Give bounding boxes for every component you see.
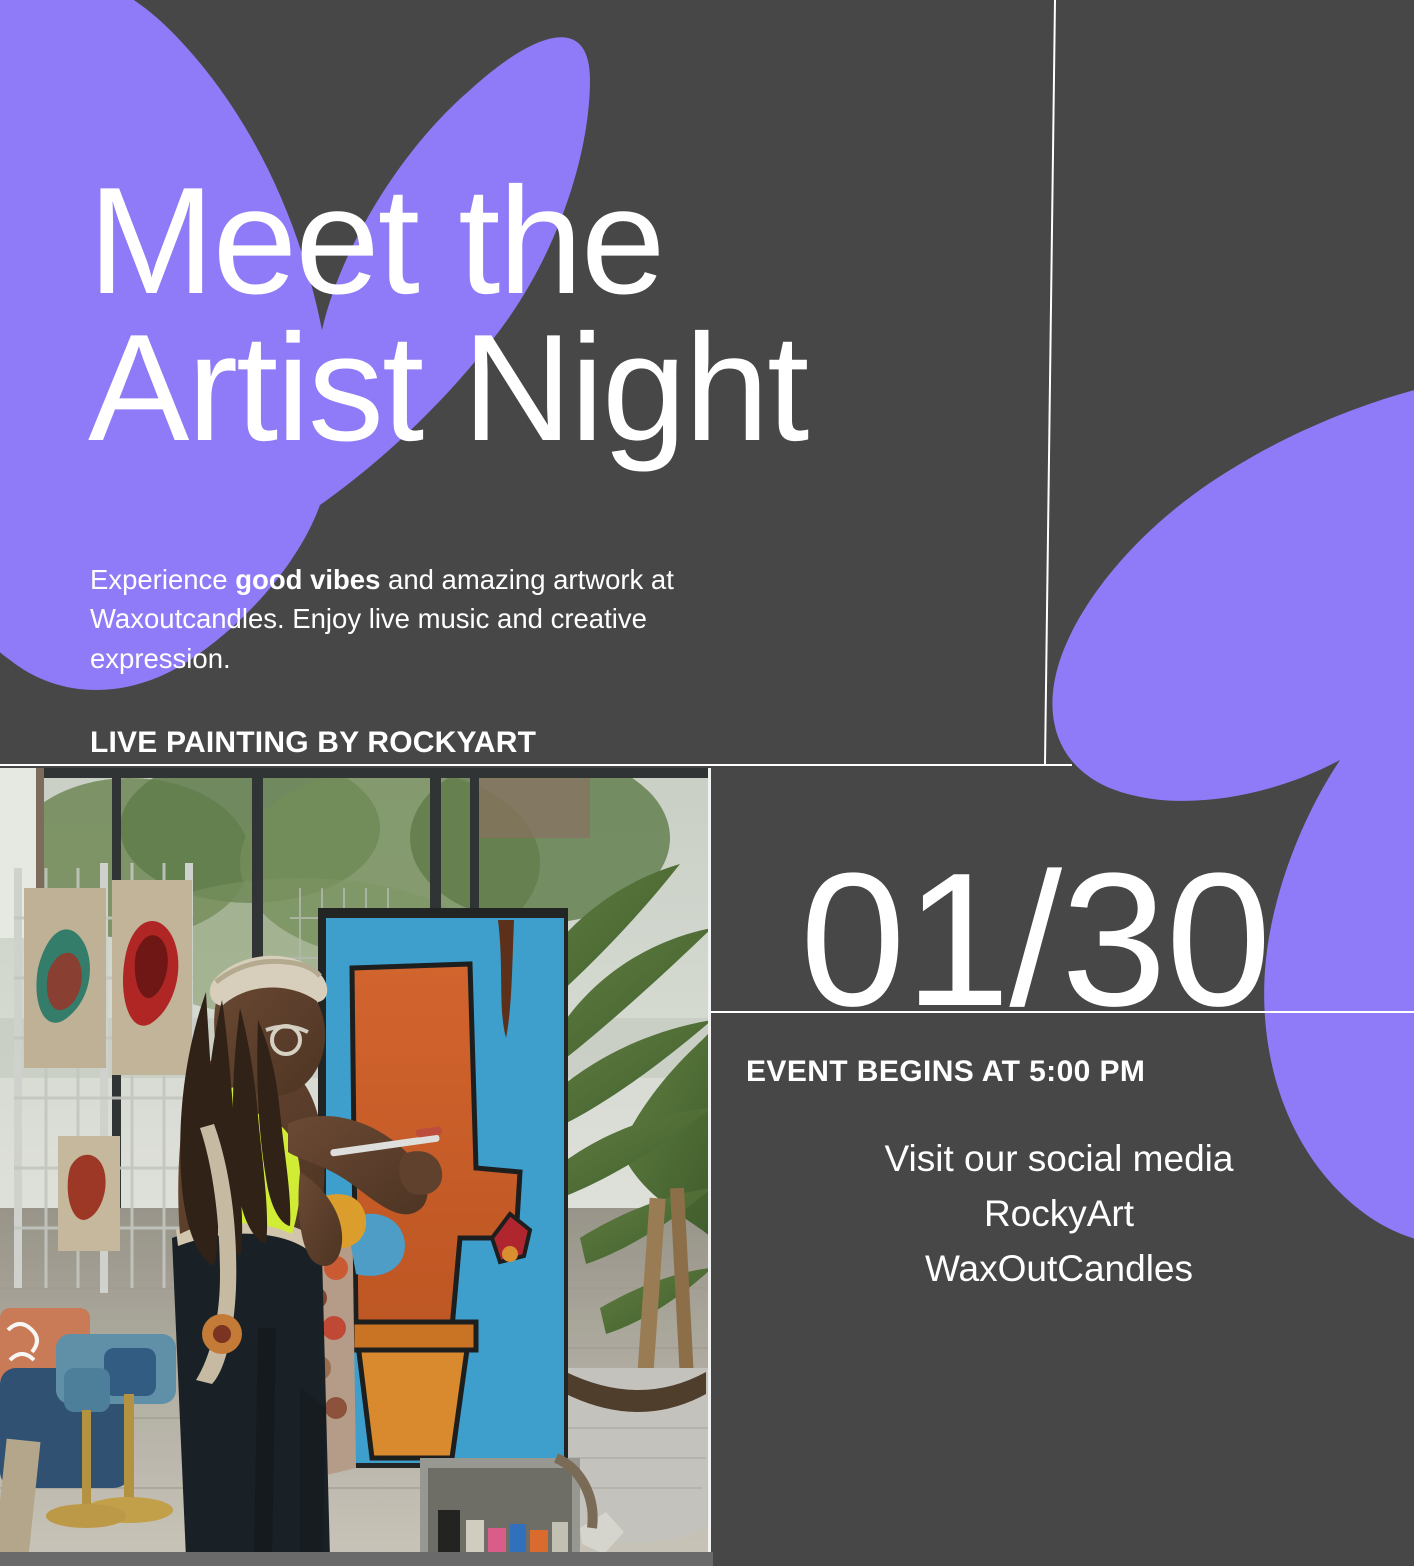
lede-text-part1: Experience xyxy=(90,564,235,595)
social-handle-waxoutcandles: WaxOutCandles xyxy=(714,1242,1404,1297)
divider-vertical xyxy=(1044,0,1056,766)
social-prompt: Visit our social media xyxy=(714,1132,1404,1187)
social-media-block: Visit our social media RockyArt WaxOutCa… xyxy=(714,1132,1404,1296)
lede-paragraph: Experience good vibes and amazing artwor… xyxy=(90,560,790,678)
divider-horizontal-top xyxy=(0,764,1072,766)
blob-right xyxy=(1052,370,1414,1244)
divider-horizontal-bottom xyxy=(710,1011,1414,1013)
social-handle-rockyart: RockyArt xyxy=(714,1187,1404,1242)
live-painting-kicker: LIVE PAINTING BY ROCKYART xyxy=(90,726,536,760)
event-time-label: EVENT BEGINS AT 5:00 PM xyxy=(746,1055,1145,1089)
photo-bottom-bar xyxy=(0,1552,713,1566)
event-flyer-poster: Meet the Artist Night Experience good vi… xyxy=(0,0,1414,1566)
lede-text-bold: good vibes xyxy=(235,564,380,595)
event-date: 01/30 xyxy=(800,845,1270,1035)
photo-right-edge xyxy=(708,768,711,1566)
page-title: Meet the Artist Night xyxy=(88,168,1008,463)
artist-painting-photo xyxy=(0,768,710,1566)
